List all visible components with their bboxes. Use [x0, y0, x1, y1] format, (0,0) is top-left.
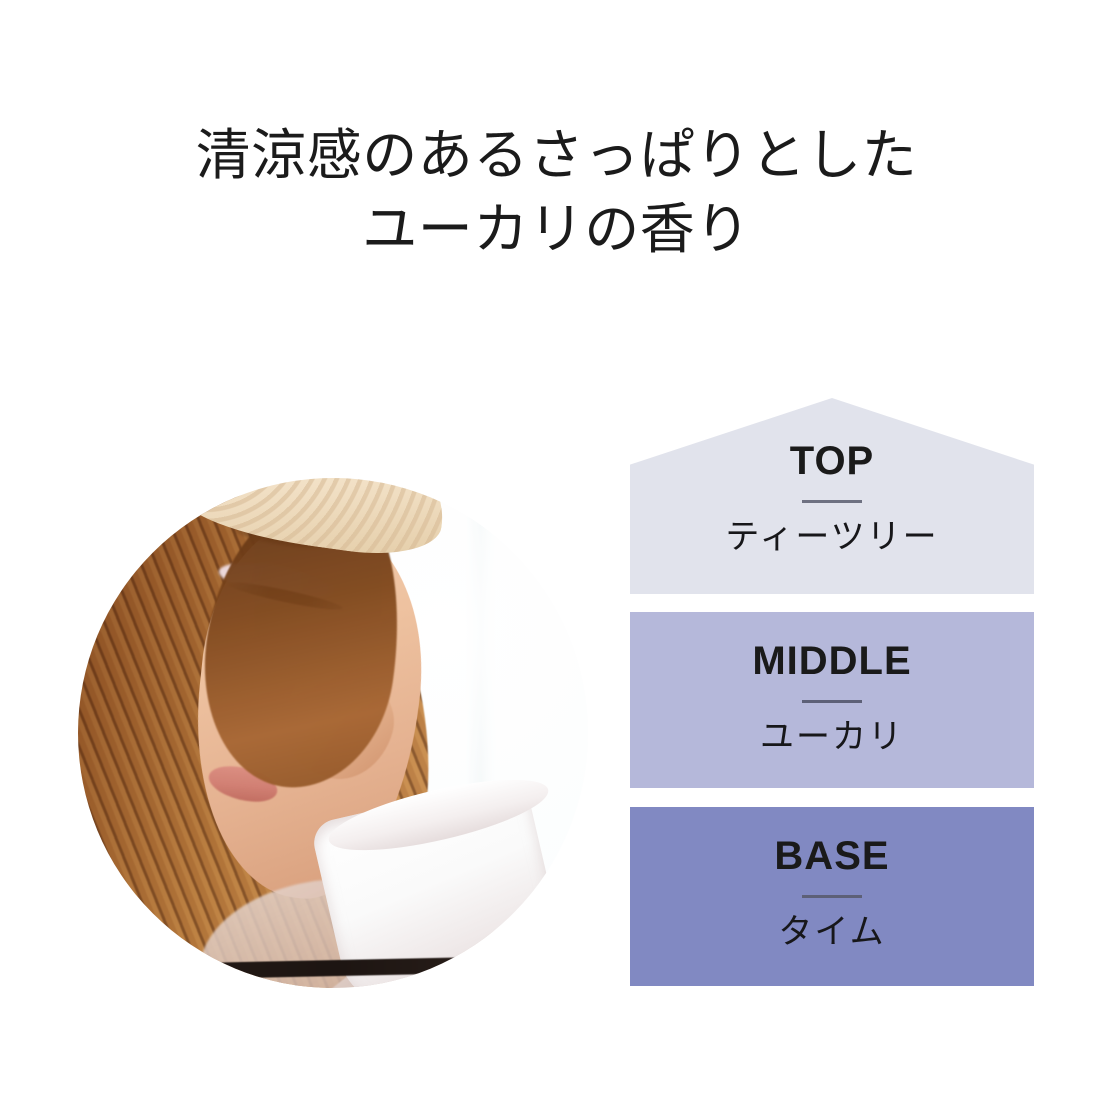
scent-note-middle-jp: ユーカリ [760, 719, 904, 756]
scent-note-middle-en: MIDDLE [752, 640, 911, 682]
page-title: 清涼感のあるさっぱりとした ユーカリの香り [0, 118, 1113, 267]
page-title-line-2: ユーカリの香り [0, 192, 1113, 266]
scent-note-top: TOP ティーツリー [630, 398, 1034, 594]
scent-pyramid: TOP ティーツリー MIDDLE ユーカリ BASE タイム [630, 398, 1034, 986]
scent-note-base-jp: タイム [778, 914, 885, 951]
scent-note-base: BASE タイム [630, 807, 1034, 986]
scent-note-top-jp: ティーツリー [725, 519, 938, 556]
page-title-line-1: 清涼感のあるさっぱりとした [0, 118, 1113, 192]
photo-composition [78, 478, 588, 988]
lifestyle-photo [78, 478, 588, 988]
scent-note-top-en: TOP [790, 440, 875, 482]
divider-rule [802, 700, 862, 703]
divider-rule [802, 895, 862, 898]
scent-note-base-en: BASE [774, 835, 889, 877]
divider-rule [802, 500, 862, 503]
scent-note-middle: MIDDLE ユーカリ [630, 612, 1034, 788]
